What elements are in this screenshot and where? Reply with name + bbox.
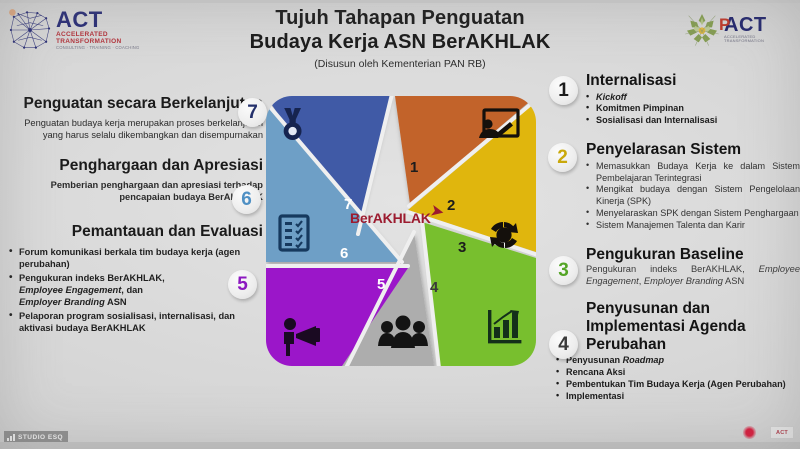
right-step-1-heading: Internalisasi — [548, 72, 800, 90]
right-step-4-heading: Penyusunan dan Implementasi Agenda Perub… — [548, 300, 800, 353]
bottom-strip — [0, 442, 800, 449]
right-step-2-heading: Penyelarasan Sistem — [548, 141, 800, 159]
list-item: Forum komunikasi berkala tim budaya kerj… — [8, 246, 263, 271]
left-step-6: Penghargaan dan Apresiasi Pemberian peng… — [8, 157, 263, 203]
title-line-1: Tujuh Tahapan Penguatan — [230, 6, 570, 30]
left-badge-5: 5 — [228, 270, 257, 299]
left-step-7-body: Penguatan budaya kerja merupakan proses … — [8, 117, 263, 142]
left-step-5: Pemantauan dan Evaluasi Forum komunikasi… — [8, 223, 263, 334]
network-glyph-icon — [8, 9, 52, 51]
right-badge-3-number: 3 — [558, 260, 569, 282]
signal-bars-icon — [7, 434, 15, 441]
list-item: Pembentukan Tim Budaya Kerja (Agen Perub… — [556, 379, 800, 391]
act-logo-subtagline: CONSULTING · TRAINING · COACHING — [56, 46, 158, 50]
garuda-emblem-icon — [682, 9, 722, 49]
wheel-number-5: 5 — [377, 276, 385, 293]
list-item: Menyelaraskan SPK dengan Sistem Pengharg… — [586, 208, 800, 220]
wheel-number-6: 6 — [340, 245, 348, 262]
garuda-act-logo-right: P ACT ACCELERATED TRANSFORMATION — [682, 4, 794, 54]
act-logo-left: ACT ACCELERATED TRANSFORMATION CONSULTIN… — [8, 6, 158, 54]
right-step-2-bullets: Memasukkan Budaya Kerja ke dalam Sistem … — [548, 161, 800, 232]
left-step-7-heading: Penguatan secara Berkelanjutan — [8, 95, 263, 114]
right-step-4: Penyusunan dan Implementasi Agenda Perub… — [548, 300, 800, 402]
left-step-6-heading: Penghargaan dan Apresiasi — [8, 157, 263, 176]
right-badge-4-number: 4 — [558, 334, 569, 356]
left-badge-5-number: 5 — [237, 274, 248, 296]
list-item: Implementasi — [556, 391, 800, 403]
wheel-number-4: 4 — [430, 279, 439, 296]
page-title: Tujuh Tahapan Penguatan Budaya Kerja ASN… — [230, 6, 570, 70]
left-badge-7-number: 7 — [247, 102, 258, 124]
top-strip — [0, 0, 800, 3]
list-item: Pengukuran indeks BerAKHLAK,Employee Eng… — [8, 272, 263, 309]
left-steps-column: Penguatan secara Berkelanjutan Penguatan… — [8, 95, 263, 336]
right-step-4-bullets: Penyusunan Roadmap Rencana Aksi Pembentu… — [548, 355, 800, 402]
center-label: BerAKHLAK — [350, 210, 431, 226]
right-step-3-heading: Pengukuran Baseline — [548, 246, 800, 264]
left-step-5-bullets: Forum komunikasi berkala tim budaya kerj… — [8, 246, 263, 335]
act-logo-right-wordmark: ACT — [724, 15, 794, 35]
left-badge-6-number: 6 — [241, 189, 252, 211]
right-badge-1: 1 — [549, 76, 578, 105]
act-logo-tagline: ACCELERATED TRANSFORMATION — [56, 32, 158, 45]
right-badge-3: 3 — [549, 256, 578, 285]
corner-badge: ACT — [770, 426, 794, 439]
list-item: Kickoff — [586, 92, 800, 104]
right-step-2: Penyelarasan Sistem Memasukkan Budaya Ke… — [548, 141, 800, 232]
right-step-1: Internalisasi Kickoff Komitmen Pimpinan … — [548, 72, 800, 127]
orange-dot-icon — [9, 9, 16, 16]
wheel-number-2: 2 — [447, 197, 455, 214]
title-line-2: Budaya Kerja ASN BerAKHLAK — [230, 30, 570, 54]
list-item: Penyusunan Roadmap — [556, 355, 800, 367]
left-badge-6: 6 — [232, 185, 261, 214]
right-step-3-subtitle: Pengukuran indeks BerAKHLAK, Employee En… — [548, 263, 800, 287]
list-item: Komitmen Pimpinan — [586, 103, 800, 115]
list-item: Mengikat budaya dengan Sistem Pengelolaa… — [586, 184, 800, 208]
studio-watermark-label: STUDIO ESQ — [18, 434, 63, 441]
right-badge-1-number: 1 — [558, 80, 569, 102]
right-steps-column: Internalisasi Kickoff Komitmen Pimpinan … — [548, 72, 800, 407]
act-logo-wordmark: ACT — [56, 9, 158, 31]
wheel-number-3: 3 — [458, 239, 466, 256]
pinwheel-diagram: 1 2 3 4 5 6 7 BerAKHLAK ➤ — [262, 92, 540, 370]
logo-accent-letter: P — [719, 16, 730, 33]
wheel-number-1: 1 — [410, 159, 418, 176]
right-badge-2: 2 — [548, 143, 577, 172]
list-item: Pelaporan program sosialisasi, internali… — [8, 310, 263, 335]
record-dot-icon — [743, 426, 756, 439]
right-badge-4: 4 — [549, 330, 578, 359]
right-step-3: Pengukuran Baseline Pengukuran indeks Be… — [548, 246, 800, 288]
list-item: Sosialisasi dan Internalisasi — [586, 115, 800, 127]
title-subtitle: (Disusun oleh Kementerian PAN RB) — [230, 58, 570, 70]
slide-canvas: ACT ACCELERATED TRANSFORMATION CONSULTIN… — [0, 0, 800, 449]
left-step-6-body: Pemberian penghargaan dan apresiasi terh… — [8, 179, 263, 204]
list-item: Memasukkan Budaya Kerja ke dalam Sistem … — [586, 161, 800, 185]
right-badge-2-number: 2 — [557, 147, 568, 169]
act-logo-right-tagline: ACCELERATED TRANSFORMATION — [724, 35, 794, 43]
left-step-7: Penguatan secara Berkelanjutan Penguatan… — [8, 95, 263, 141]
list-item: Sistem Manajemen Talenta dan Karir — [586, 220, 800, 232]
left-step-5-heading: Pemantauan dan Evaluasi — [8, 223, 263, 242]
right-step-1-bullets: Kickoff Komitmen Pimpinan Sosialisasi da… — [548, 92, 800, 127]
list-item: Rencana Aksi — [556, 367, 800, 379]
